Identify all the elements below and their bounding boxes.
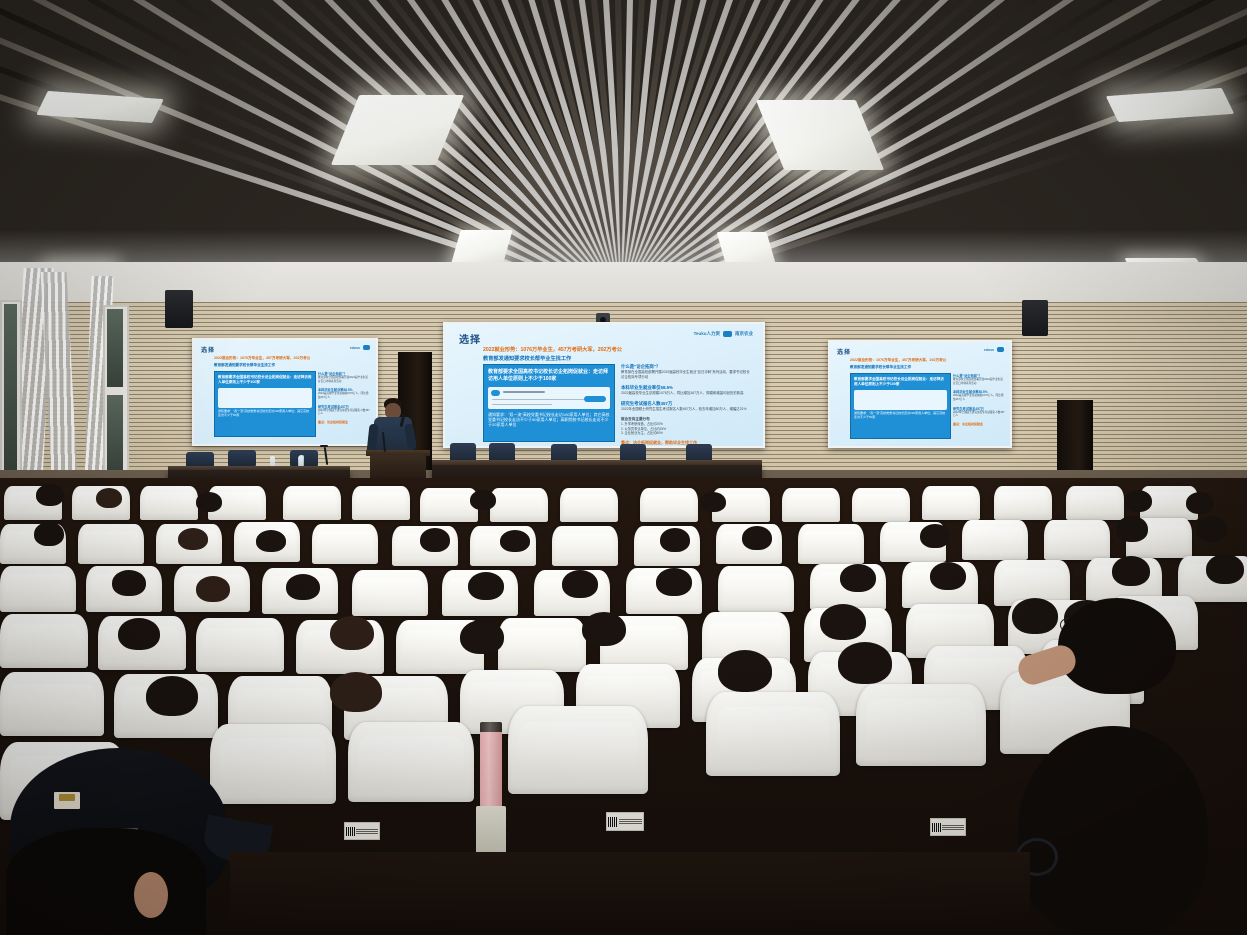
slide-logo-text-2: 南京农业: [735, 331, 753, 337]
slide-col-body-4: 1. 升学考研深造，占比约20% 2. 公务员事业单位，占比约15% 3. 企业…: [621, 422, 751, 436]
audience-seat[interactable]: [498, 618, 586, 672]
slide-title: 选择: [459, 331, 481, 346]
audience-seat[interactable]: [283, 486, 341, 520]
slide-blue-box: 教育部要求全国高校书记校长访企拓岗促就业：走访拜访用人单位原则上不少于100家 …: [483, 364, 615, 442]
window-glass: [107, 395, 123, 475]
slide-headline-1: 2022就业形势：1076万毕业生，457万考研大军，202万考公: [850, 358, 946, 363]
audience-head: [470, 490, 496, 510]
audience-head: [820, 604, 866, 640]
slide-col-body: 教育部在全国高校部署开展2022届毕业生就业百日冲刺系列活动: [953, 378, 1005, 385]
slide-box-footer: 通知要求："双一流"高校党委书记校长走访100家用人单位；其它高校走访不少于50…: [218, 410, 312, 418]
audience-head: [36, 484, 64, 506]
slide-box-footer: 通知要求："双一流"高校党委书记校长走访100家用人单位；其它高校走访不少于50…: [854, 412, 947, 420]
slide-logo-mark: [363, 345, 370, 350]
slide-box-card: [854, 390, 947, 410]
audience-seat[interactable]: [798, 524, 864, 564]
slide-logo: eduss: [984, 347, 1004, 352]
audience-head: [256, 530, 286, 552]
audience-head: [330, 616, 374, 650]
audience-head: [500, 530, 530, 552]
audience-head: [562, 570, 598, 598]
audience-head: [196, 492, 222, 512]
slide-right-column: 什么是"访企拓岗"？ 教育部在全国高校部署开展2022届高校毕业生就业"百日冲刺…: [621, 364, 751, 446]
window-frame: [0, 300, 22, 484]
slide-logo: Teuku人力资 南京农业: [694, 331, 753, 337]
slide-col-body: 教育部在全国高校部署开展2022届毕业生就业百日冲刺系列活动: [318, 376, 370, 383]
slide-headline-2: 教育部发通知要求校长帮毕业生找工作: [214, 363, 275, 368]
slide-blue-box: 教育部要求全国高校书记校长访企拓岗促就业：走访拜访用人单位原则上不少于100家 …: [214, 371, 316, 437]
card-action-button[interactable]: [584, 396, 606, 402]
card-text-line: [492, 404, 552, 406]
main-projection-screen: 选择 Teuku人力资 南京农业 2022就业形势：1076万毕业生，457万考…: [443, 322, 765, 448]
qr-label-lines: [619, 819, 642, 824]
audience-head: [656, 568, 692, 596]
slide-title: 选择: [201, 345, 215, 354]
audience-head: [1112, 556, 1150, 586]
audience-seat[interactable]: [352, 570, 428, 616]
head-table-chair: [228, 450, 256, 466]
slide-box-footer: 通知要求："双一流"高校党委书记校长走访100家用人单位；其它高校党委书记校长走…: [488, 412, 610, 428]
audience-seat[interactable]: [78, 524, 144, 564]
slide-title: 选择: [837, 347, 851, 356]
slide-col-body-3: 2022年全国硕士研究生招生考试报名人数457万人，较去年增加80万人，增幅达2…: [621, 407, 751, 412]
audience-head: [1012, 598, 1058, 634]
seat-qr-label: [606, 812, 644, 831]
audience-head: [34, 522, 64, 546]
audience-seat[interactable]: [508, 706, 648, 794]
slide-col-body-2: 2022届高校毕业生总规模1076万人，同比增加167万人，规模和增量均创历史新…: [621, 391, 751, 396]
foreground-hair-left: [6, 828, 206, 935]
audience-seat[interactable]: [352, 486, 410, 520]
audience-head: [1186, 492, 1214, 514]
audience-seat[interactable]: [718, 566, 794, 612]
audience-seat[interactable]: [0, 614, 88, 668]
left-slide-content: 选择 eduss 2022就业形势：1076万毕业生，457万考研大军，202万…: [194, 340, 376, 444]
audience-head: [420, 528, 450, 552]
audience-seat[interactable]: [348, 722, 474, 802]
card-avatar-icon: [491, 390, 500, 396]
audience-seat[interactable]: [1044, 520, 1110, 560]
window-frame: [103, 305, 129, 484]
foreground-head-right-front: [1018, 726, 1208, 935]
slide-logo-text: eduss: [350, 346, 360, 350]
audience-head: [718, 650, 772, 692]
qr-code-icon: [932, 823, 941, 832]
slide-logo: eduss: [350, 345, 370, 350]
audience-head: [1206, 554, 1244, 584]
slide-headline-1: 2022就业形势：1076万毕业生，457万考研大军，202万考公: [214, 356, 310, 361]
audience-seat[interactable]: [782, 488, 840, 522]
audience-seat[interactable]: [962, 520, 1028, 560]
audience-seat[interactable]: [994, 486, 1052, 520]
slide-box-title: 教育部要求全国高校书记校长访企拓岗促就业：走访拜访用人单位原则上不少于100家: [218, 375, 312, 385]
slide-box-title: 教育部要求全国高校书记校长访企拓岗促就业：走访拜访用人单位原则上不少于100家: [854, 377, 947, 387]
audience-head: [112, 570, 146, 596]
audience-head: [700, 492, 726, 512]
qr-label-lines: [942, 825, 964, 830]
head-table-chair: [489, 443, 515, 461]
audience-seat[interactable]: [852, 488, 910, 522]
audience-seat[interactable]: [1066, 486, 1124, 520]
left-projection-screen: 选择 eduss 2022就业形势：1076万毕业生，457万考研大军，202万…: [192, 338, 378, 446]
slide-headline-2: 教育部发通知要求校长帮毕业生找工作: [850, 365, 911, 370]
wall-speaker-left: [165, 290, 193, 328]
audience-seat[interactable]: [922, 486, 980, 520]
foreground-head-right-back: [1058, 598, 1176, 694]
wall-speaker-right: [1022, 300, 1048, 336]
audience-head: [286, 574, 320, 600]
audience-head: [178, 528, 208, 550]
thermos-lid: [480, 722, 502, 732]
audience-seat[interactable]: [196, 618, 284, 672]
slide-box-card: [488, 387, 610, 409]
qr-code-icon: [346, 827, 355, 836]
audience-seat[interactable]: [856, 684, 986, 766]
aisle-floor: [230, 852, 1030, 935]
audience-head: [660, 528, 690, 552]
audience-head: [742, 526, 772, 550]
audience-seat[interactable]: [560, 488, 618, 522]
slide-box-card: [218, 388, 312, 408]
right-slide-content: 选择 eduss 2022就业形势：1076万毕业生，457万考研大军，202万…: [830, 342, 1010, 446]
right-projection-screen: 选择 eduss 2022就业形势：1076万毕业生，457万考研大军，202万…: [828, 340, 1012, 448]
audience-head: [460, 620, 504, 654]
audience-head: [118, 618, 160, 650]
slide-logo-text: Teuku人力资: [694, 331, 720, 337]
slide-logo-mark: [997, 347, 1004, 352]
audience-head: [96, 488, 122, 508]
slide-headline-2: 教育部发通知要求校长帮毕业生找工作: [483, 355, 571, 362]
audience-head: [146, 676, 198, 716]
slide-right-column: 什么是"访企拓岗"？ 教育部在全国高校部署开展2022届毕业生就业百日冲刺系列活…: [953, 373, 1005, 426]
audience-head: [1124, 490, 1152, 512]
audience-seat[interactable]: [490, 488, 548, 522]
foreground-ear-left: [134, 872, 168, 918]
slide-blue-box: 教育部要求全国高校书记校长访企拓岗促就业：走访拜访用人单位原则上不少于100家 …: [850, 373, 951, 439]
seat-qr-label: [344, 822, 380, 840]
audience-seat[interactable]: [0, 566, 76, 612]
audience-seat[interactable]: [706, 692, 840, 776]
qr-code-icon: [608, 817, 618, 827]
audience-seat[interactable]: [420, 488, 478, 522]
audience-seat[interactable]: [0, 672, 104, 736]
seat-qr-label: [930, 818, 966, 836]
card-text-line: [492, 399, 587, 401]
head-table-chair: [290, 450, 318, 466]
slide-col-body: 2022届高校毕业生总规模1076万人，同比增加167万人: [953, 394, 1005, 401]
slide-logo-text: eduss: [984, 348, 994, 352]
slide-headline-1: 2022就业形势：1076万毕业生，457万考研大军，202万考公: [483, 346, 622, 353]
pink-thermos-bottle[interactable]: [480, 722, 502, 808]
window-glass: [107, 309, 123, 387]
audience-head: [582, 612, 626, 646]
audience-seat[interactable]: [210, 724, 336, 804]
audience-head: [920, 524, 950, 548]
audience-head: [1116, 516, 1148, 542]
window-glass: [4, 304, 17, 474]
audience-head: [1196, 516, 1228, 542]
thermos-shadow: [476, 806, 506, 858]
qr-label-lines: [356, 829, 378, 834]
audience-head: [468, 572, 504, 600]
cap-logo-patch: [54, 792, 80, 809]
slide-bottom-note: 重点：访企拓岗促就业: [953, 422, 1005, 426]
slide-col-body: 2022年全国硕士研究生招生考试报名人数457万人: [953, 411, 1005, 418]
slide-col-body-1: 教育部在全国高校部署开展2022届高校毕业生就业"百日冲刺"系列活动，要求书记校…: [621, 370, 751, 380]
audience-seat[interactable]: [640, 488, 698, 522]
audience-seat[interactable]: [140, 486, 198, 520]
table-microphone-head: [320, 445, 328, 447]
audience-seat[interactable]: [312, 524, 378, 564]
audience-head: [330, 672, 382, 712]
audience-head: [838, 642, 892, 684]
audience-head: [196, 576, 230, 602]
audience-head: [930, 562, 966, 590]
audience-head: [840, 564, 876, 592]
slide-logo-mark: [723, 331, 732, 337]
lecture-hall-photo: 选择 eduss 2022就业形势：1076万毕业生，457万考研大军，202万…: [0, 0, 1247, 935]
card-text-line: [503, 391, 545, 393]
slide-box-title: 教育部要求全国高校书记校长访企拓岗促就业：走访拜访用人单位原则上不少于100家: [488, 369, 610, 383]
main-slide-content: 选择 Teuku人力资 南京农业 2022就业形势：1076万毕业生，457万考…: [445, 324, 763, 446]
audience-seat[interactable]: [552, 526, 618, 566]
head-table-chair: [450, 443, 476, 461]
